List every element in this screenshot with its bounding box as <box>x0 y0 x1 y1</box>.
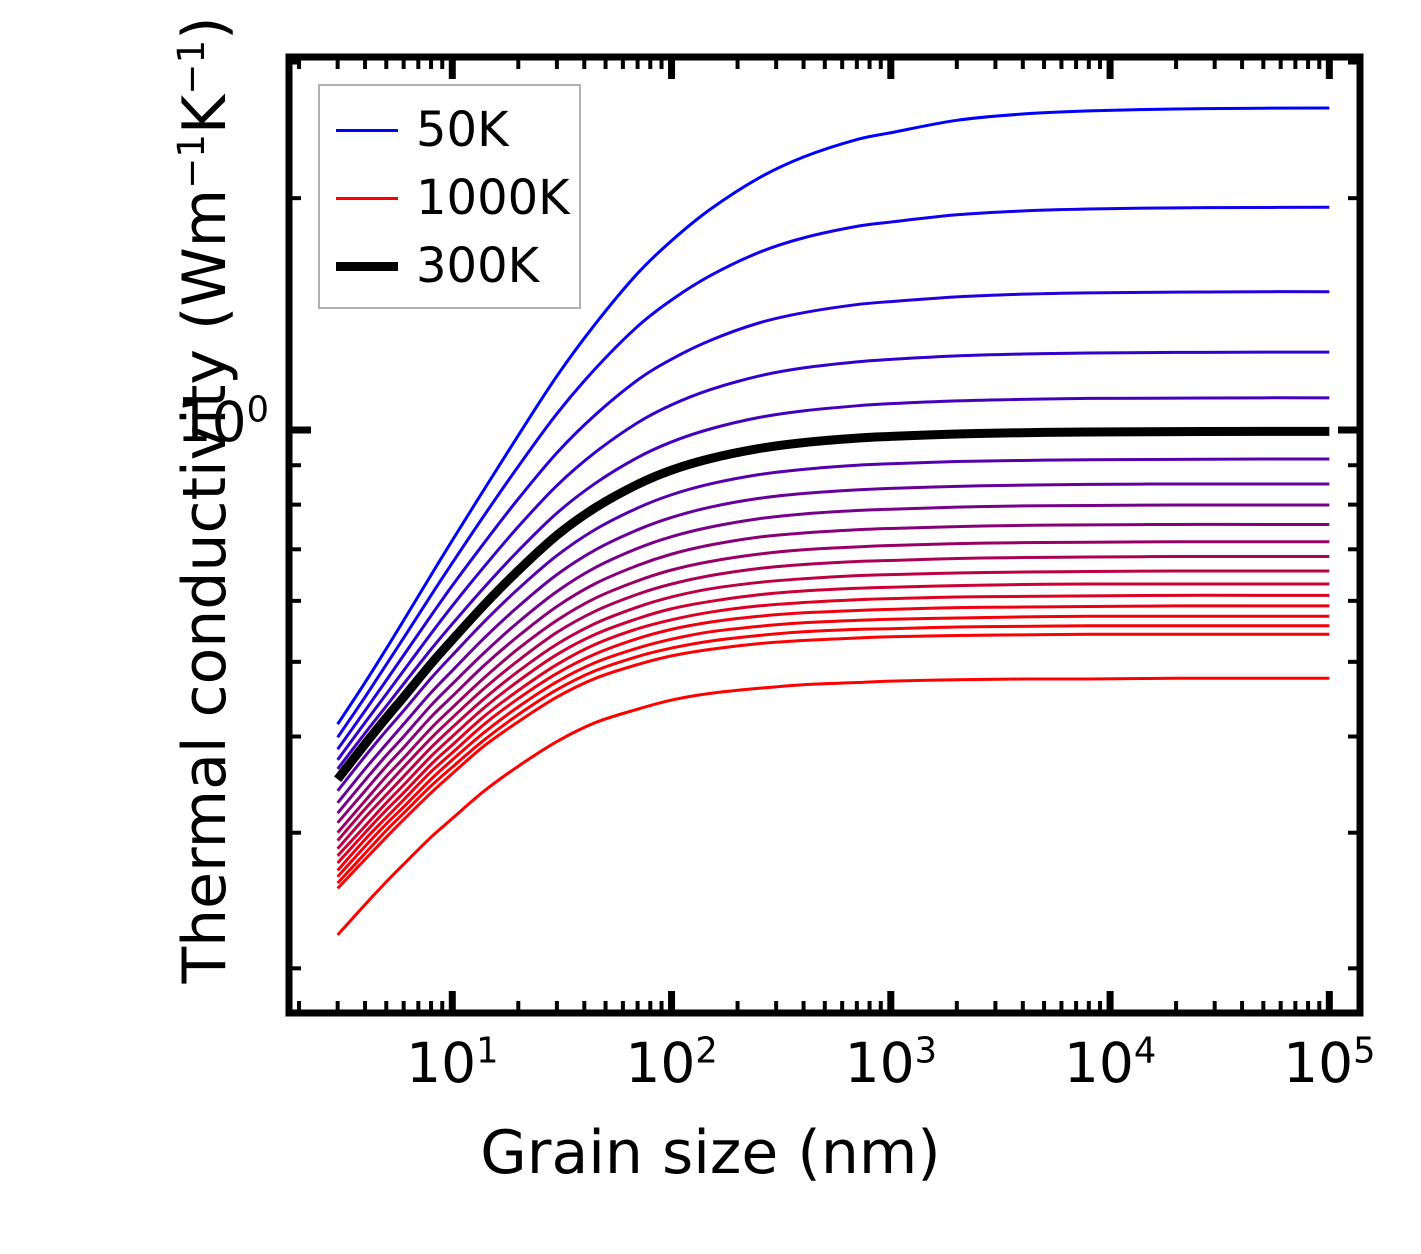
x-tick-exponent: 3 <box>915 1031 937 1072</box>
x-tick-mantissa: 10 <box>625 1031 695 1095</box>
y-axis-label-wrapper: Thermal conductivity (Wm−1K−1) <box>170 0 240 1000</box>
x-tick-exponent: 4 <box>1134 1031 1156 1072</box>
legend-item-1000k[interactable]: 1000K <box>320 164 579 232</box>
curve-1000k <box>338 678 1330 935</box>
x-tick-mantissa: 10 <box>1064 1031 1134 1095</box>
y-axis-label-close: ) <box>170 16 240 39</box>
legend-item-50k[interactable]: 50K <box>320 96 579 164</box>
x-tick-label: 103 <box>811 1031 971 1095</box>
legend-swatch-line-icon <box>336 129 398 132</box>
x-tick-exponent: 5 <box>1353 1031 1375 1072</box>
curve-450k <box>338 505 1330 813</box>
thermal-conductivity-figure: 101102103104105 100 Grain size (nm) Ther… <box>0 0 1421 1254</box>
legend: 50K1000K300K <box>318 84 581 309</box>
legend-label: 50K <box>416 106 509 154</box>
curve-850k <box>338 616 1330 877</box>
y-axis-label-exp1: −1 <box>169 134 213 189</box>
legend-item-300k[interactable]: 300K <box>320 232 579 300</box>
y-axis-label: Thermal conductivity (Wm−1K−1) <box>170 16 240 983</box>
x-tick-exponent: 1 <box>476 1031 498 1072</box>
y-axis-label-exp2: −1 <box>169 40 213 95</box>
curve-950k <box>338 634 1330 888</box>
legend-label: 1000K <box>416 174 570 222</box>
curve-150k <box>338 292 1330 750</box>
y-axis-label-base: Thermal conductivity (Wm <box>170 189 240 984</box>
x-axis-label: Grain size (nm) <box>0 1118 1421 1188</box>
x-tick-label: 105 <box>1249 1031 1409 1095</box>
x-tick-label: 101 <box>372 1031 532 1095</box>
x-tick-exponent: 2 <box>695 1031 717 1072</box>
legend-label: 300K <box>416 242 539 290</box>
x-tick-label: 104 <box>1030 1031 1190 1095</box>
legend-swatch-line-icon <box>336 197 398 200</box>
x-tick-mantissa: 10 <box>845 1031 915 1095</box>
y-tick-exponent: 0 <box>247 390 269 431</box>
legend-swatch-line-icon <box>336 262 398 271</box>
curve-500k <box>338 524 1330 822</box>
x-tick-label: 102 <box>592 1031 752 1095</box>
x-tick-mantissa: 10 <box>1283 1031 1353 1095</box>
x-tick-mantissa: 10 <box>406 1031 476 1095</box>
y-axis-label-mid: K <box>170 95 240 134</box>
